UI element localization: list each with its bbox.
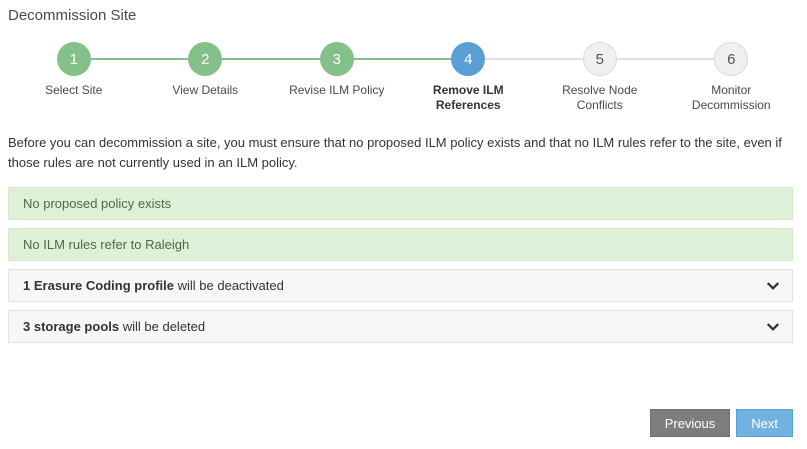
panel-subject: storage pools — [34, 319, 119, 334]
step-4[interactable]: 4Remove ILM References — [403, 41, 535, 113]
description-text: Before you can decommission a site, you … — [8, 133, 798, 173]
step-circle-wrap: 5 — [534, 41, 666, 77]
next-button[interactable]: Next — [736, 409, 793, 437]
step-circle-wrap: 4 — [403, 41, 535, 77]
step-circle-wrap: 2 — [140, 41, 272, 77]
panel-list: No proposed policy existsNo ILM rules re… — [8, 187, 793, 343]
step-circle-2[interactable]: 2 — [188, 42, 222, 76]
step-connector-right — [353, 58, 403, 60]
step-circle-5[interactable]: 5 — [583, 42, 617, 76]
step-circle-1[interactable]: 1 — [57, 42, 91, 76]
chevron-down-icon[interactable] — [766, 320, 780, 334]
step-connector-right — [90, 58, 140, 60]
step-1[interactable]: 1Select Site — [8, 41, 140, 98]
step-connector-left — [666, 58, 716, 60]
collapsible-panel[interactable]: 3 storage pools will be deleted — [8, 310, 793, 343]
panel-subject: Erasure Coding profile — [34, 278, 174, 293]
step-label-5: Resolve Node Conflicts — [550, 83, 650, 113]
status-panel-text: No proposed policy exists — [23, 196, 171, 211]
step-2[interactable]: 2View Details — [140, 41, 272, 98]
step-connector-left — [534, 58, 584, 60]
panel-suffix: will be deleted — [123, 319, 205, 334]
step-label-4: Remove ILM References — [418, 83, 518, 113]
panel-suffix: will be deactivated — [178, 278, 284, 293]
step-5[interactable]: 5Resolve Node Conflicts — [534, 41, 666, 113]
collapsible-panel[interactable]: 1 Erasure Coding profile will be deactiv… — [8, 269, 793, 302]
status-panel: No ILM rules refer to Raleigh — [8, 228, 793, 261]
step-connector-left — [271, 58, 321, 60]
collapsible-panel-text: 1 Erasure Coding profile will be deactiv… — [23, 278, 284, 293]
step-circle-wrap: 1 — [8, 41, 140, 77]
decommission-stepper: 1Select Site2View Details3Revise ILM Pol… — [0, 41, 807, 113]
status-panel-text: No ILM rules refer to Raleigh — [23, 237, 189, 252]
step-connector-left — [140, 58, 190, 60]
step-connector-left — [403, 58, 453, 60]
step-3[interactable]: 3Revise ILM Policy — [271, 41, 403, 98]
step-connector-right — [484, 58, 534, 60]
panel-count: 1 — [23, 278, 30, 293]
previous-button[interactable]: Previous — [650, 409, 731, 437]
step-label-1: Select Site — [45, 83, 102, 98]
step-circle-wrap: 3 — [271, 41, 403, 77]
step-label-6: Monitor Decommission — [681, 83, 781, 113]
status-panel: No proposed policy exists — [8, 187, 793, 220]
step-6[interactable]: 6Monitor Decommission — [666, 41, 798, 113]
chevron-down-icon[interactable] — [766, 279, 780, 293]
step-label-2: View Details — [172, 83, 238, 98]
step-circle-3[interactable]: 3 — [320, 42, 354, 76]
step-label-3: Revise ILM Policy — [289, 83, 384, 98]
step-circle-wrap: 6 — [666, 41, 798, 77]
step-connector-right — [221, 58, 271, 60]
step-circle-4[interactable]: 4 — [451, 42, 485, 76]
footer-actions: Previous Next — [650, 409, 793, 437]
page-title: Decommission Site — [0, 0, 807, 25]
panel-count: 3 — [23, 319, 30, 334]
collapsible-panel-text: 3 storage pools will be deleted — [23, 319, 205, 334]
step-circle-6[interactable]: 6 — [714, 42, 748, 76]
step-connector-right — [616, 58, 666, 60]
